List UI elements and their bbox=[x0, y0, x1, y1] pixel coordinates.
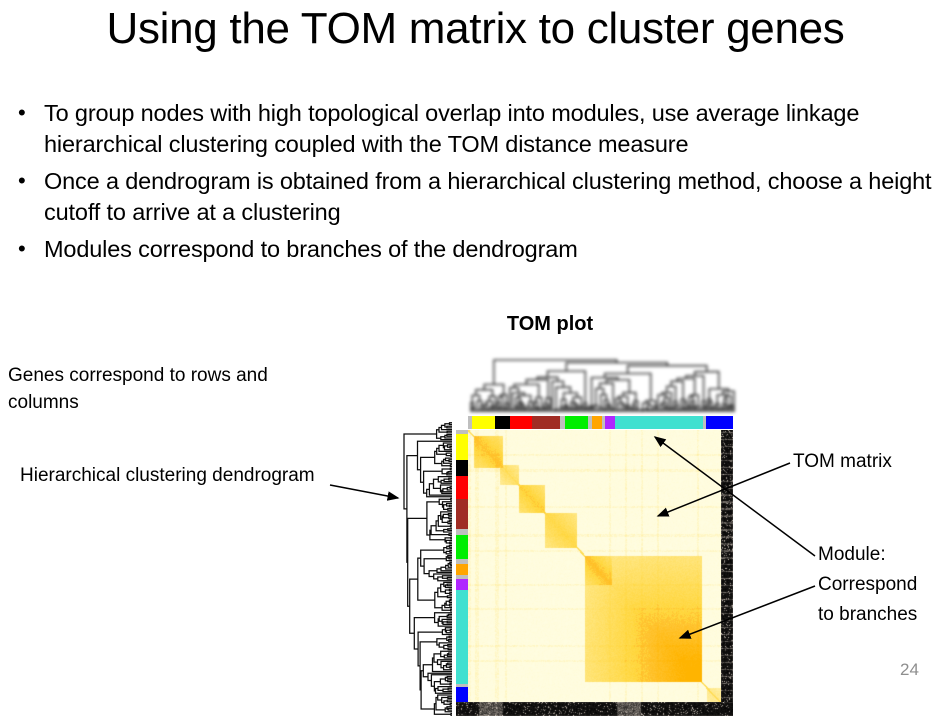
module-color-band-red bbox=[510, 416, 532, 429]
left-dendrogram bbox=[400, 422, 458, 716]
top-dendrogram-svg bbox=[470, 356, 735, 414]
module-color-band-red bbox=[456, 476, 468, 499]
module-color-band-yellow bbox=[456, 434, 468, 460]
page-number: 24 bbox=[900, 660, 919, 680]
caption-genes-rows-columns: Genes correspond to rows and columns bbox=[8, 362, 338, 416]
row-module-color-strip bbox=[456, 430, 468, 716]
module-color-band-black bbox=[456, 460, 468, 475]
caption-tom-matrix: TOM matrix bbox=[793, 448, 943, 475]
list-item: • To group nodes with high topological o… bbox=[8, 98, 951, 160]
heatmap-bottom-dark-edge bbox=[456, 702, 733, 716]
bullet-marker-icon: • bbox=[18, 165, 26, 196]
module-color-band-orange bbox=[592, 416, 602, 429]
tom-plot-title: TOM plot bbox=[440, 313, 660, 336]
caption-module-line-1: Module: bbox=[818, 540, 951, 570]
module-color-band-brown bbox=[532, 416, 560, 429]
module-color-band-turquoise bbox=[615, 416, 703, 429]
module-color-band-brown bbox=[456, 499, 468, 529]
module-color-band-purple bbox=[456, 579, 468, 590]
left-dendrogram-svg bbox=[400, 422, 458, 716]
module-color-band-green bbox=[565, 416, 588, 429]
top-dendrogram-branches bbox=[471, 360, 734, 412]
caption-module-line-2: Correspond bbox=[818, 570, 951, 600]
module-color-band-green bbox=[456, 535, 468, 559]
tom-matrix-heatmap bbox=[468, 430, 733, 716]
top-dendrogram bbox=[470, 356, 735, 414]
column-module-color-strip bbox=[468, 416, 733, 429]
bullet-text: Modules correspond to branches of the de… bbox=[44, 234, 951, 265]
module-color-band-yellow bbox=[472, 416, 496, 429]
heatmap-right-dark-edge bbox=[721, 430, 733, 712]
list-item: • Modules correspond to branches of the … bbox=[8, 234, 951, 265]
arrow-to-dendrogram bbox=[330, 485, 398, 498]
bullet-marker-icon: • bbox=[18, 97, 26, 128]
caption-hierarchical-clustering-dendrogram: Hierarchical clustering dendrogram bbox=[20, 462, 320, 489]
list-item: • Once a dendrogram is obtained from a h… bbox=[8, 166, 951, 228]
bullet-text: Once a dendrogram is obtained from a hie… bbox=[44, 166, 951, 228]
module-color-band-turquoise bbox=[456, 590, 468, 684]
bullet-list: • To group nodes with high topological o… bbox=[8, 98, 951, 271]
tom-plot-figure bbox=[398, 356, 738, 718]
left-dendrogram-branches bbox=[404, 423, 452, 715]
module-color-band-black bbox=[495, 416, 510, 429]
caption-module-line-3: to branches bbox=[818, 600, 951, 630]
page-title: Using the TOM matrix to cluster genes bbox=[0, 2, 951, 56]
bullet-marker-icon: • bbox=[18, 233, 26, 264]
module-color-band-orange bbox=[456, 564, 468, 575]
bullet-text: To group nodes with high topological ove… bbox=[44, 98, 951, 160]
tom-matrix-canvas bbox=[468, 430, 733, 716]
module-color-band-purple bbox=[605, 416, 615, 429]
module-color-band-blue bbox=[706, 416, 733, 429]
caption-module-correspond-to-branches: Module: Correspond to branches bbox=[818, 540, 951, 630]
slide-canvas: Using the TOM matrix to cluster genes • … bbox=[0, 0, 951, 718]
